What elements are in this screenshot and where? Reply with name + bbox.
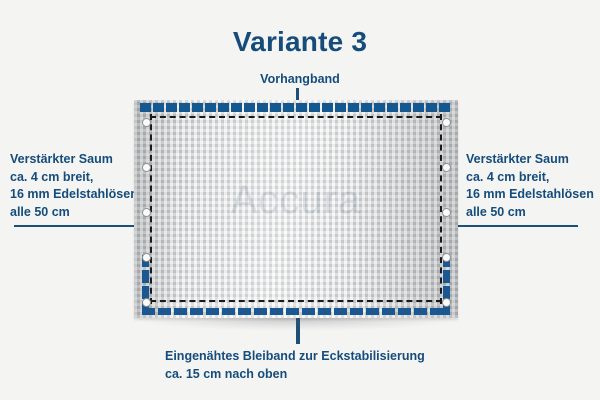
seam-line-right: [440, 114, 442, 304]
diagram-canvas: Variante 3 Vorhangband Verstärkter Saum …: [0, 0, 600, 400]
seam-line-bottom: [150, 300, 442, 302]
tarp-ground-shadow: [138, 318, 456, 330]
tarp-panel: Accura: [134, 100, 458, 318]
eyelet-left-4: [142, 253, 151, 262]
curtain-band-vorhangband: [140, 103, 452, 112]
note-left-line-4: alle 50 cm: [10, 204, 138, 222]
note-right-line-2: ca. 4 cm breit,: [466, 169, 594, 187]
eyelet-right-2: [442, 163, 451, 172]
note-right: Verstärkter Saum ca. 4 cm breit, 16 mm E…: [466, 151, 594, 221]
note-bottom-line-2: ca. 15 cm nach oben: [165, 366, 425, 384]
eyelet-right-5: [442, 298, 451, 307]
note-bottom: Eingenähtes Bleiband zur Eckstabilisieru…: [165, 348, 425, 383]
leader-line-right: [456, 225, 578, 227]
eyelet-left-1: [142, 118, 151, 127]
watermark: Accura: [134, 178, 458, 223]
note-left-line-2: ca. 4 cm breit,: [10, 169, 138, 187]
note-left: Verstärkter Saum ca. 4 cm breit, 16 mm E…: [10, 151, 138, 221]
lead-band-bottom: [142, 308, 450, 315]
note-left-line-1: Verstärkter Saum: [10, 151, 138, 169]
note-right-line-3: 16 mm Edelstahlösen: [466, 186, 594, 204]
eyelet-left-2: [142, 163, 151, 172]
eyelet-left-5: [142, 298, 151, 307]
eyelet-right-4: [442, 253, 451, 262]
page-title: Variante 3: [0, 26, 600, 58]
seam-line-top: [150, 116, 442, 118]
leader-line-left: [14, 225, 136, 227]
label-vorhangband: Vorhangband: [0, 72, 600, 86]
note-left-line-3: 16 mm Edelstahlösen: [10, 186, 138, 204]
seam-line-left: [150, 114, 152, 304]
eyelet-right-3: [442, 208, 451, 217]
note-right-line-1: Verstärkter Saum: [466, 151, 594, 169]
tarp-sheen: [134, 100, 458, 318]
eyelet-right-1: [442, 118, 451, 127]
eyelet-left-3: [142, 208, 151, 217]
note-bottom-line-1: Eingenähtes Bleiband zur Eckstabilisieru…: [165, 348, 425, 366]
note-right-line-4: alle 50 cm: [466, 204, 594, 222]
